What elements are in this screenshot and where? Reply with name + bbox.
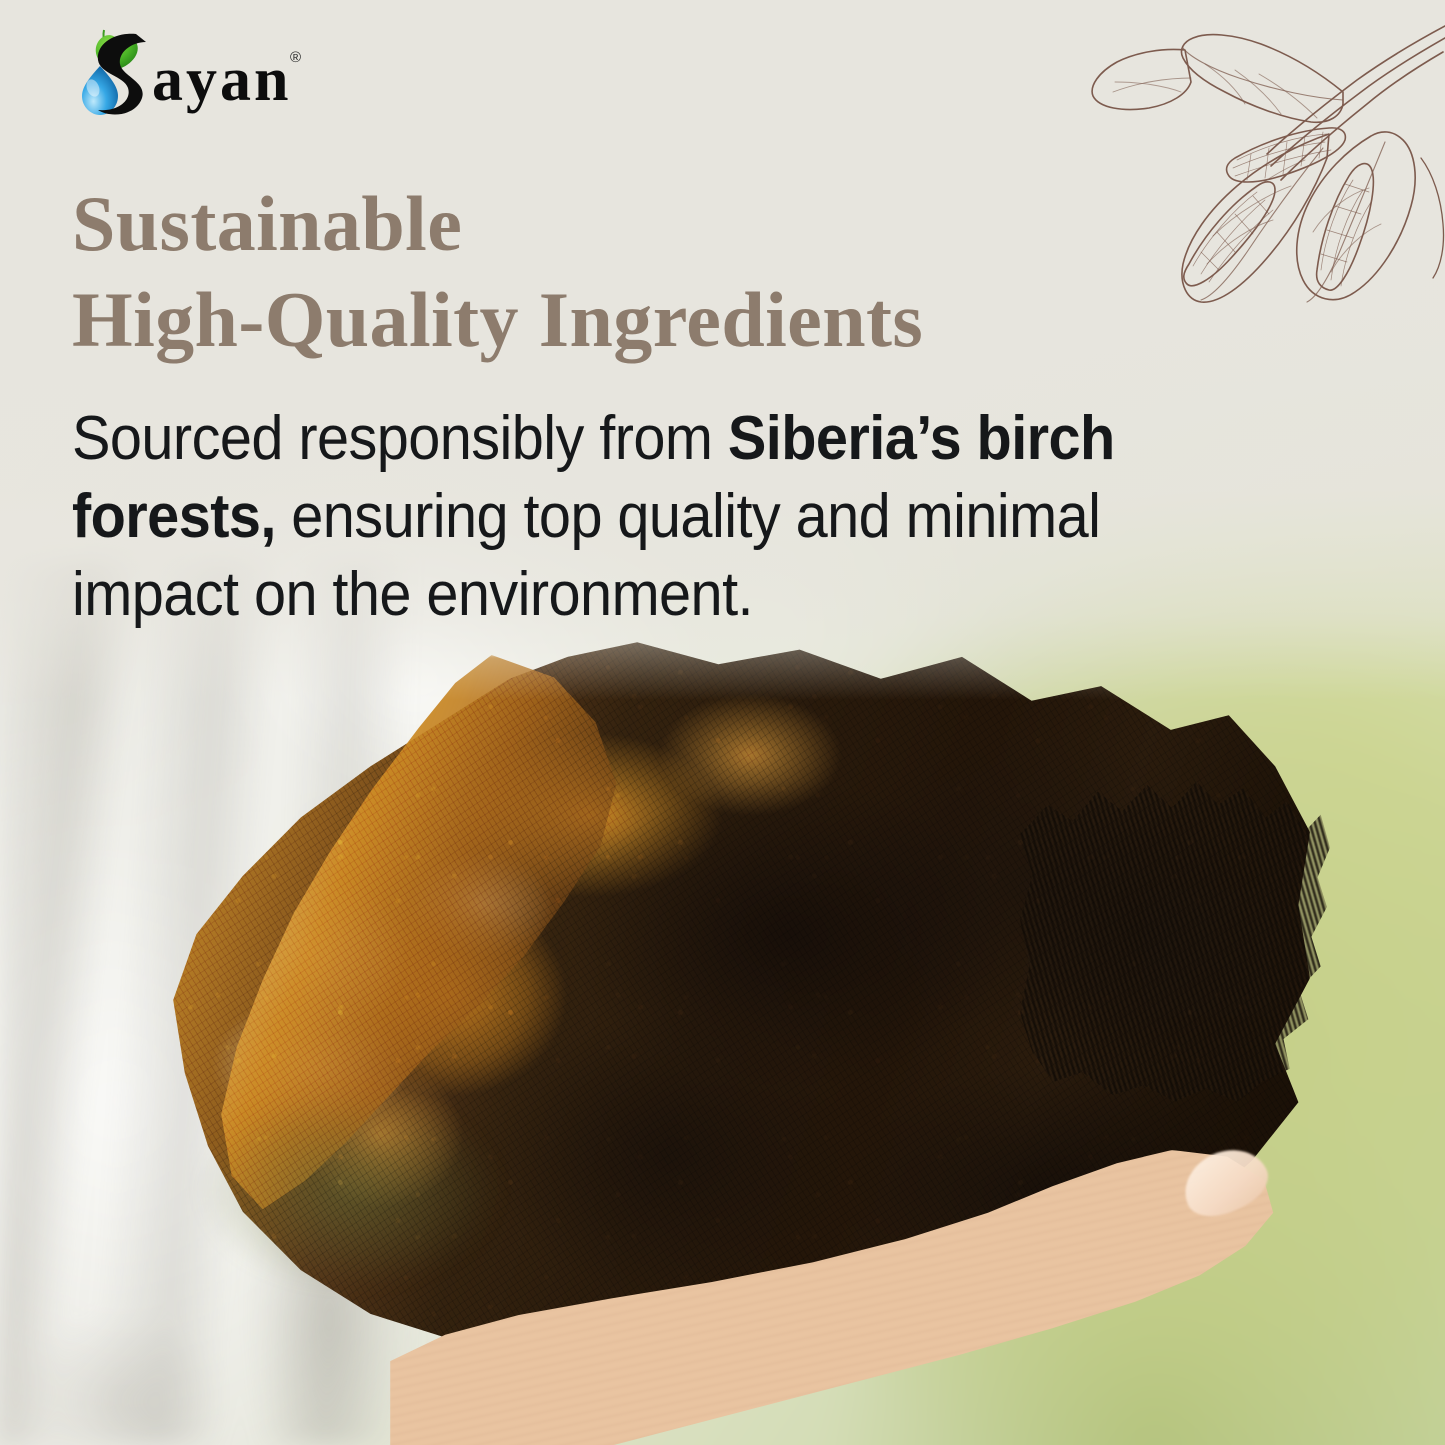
promo-banner: ayan ®	[0, 0, 1445, 1445]
registered-trademark-symbol: ®	[290, 49, 301, 66]
body-text-lead: Sourced responsibly from	[72, 404, 728, 473]
sayan-logo[interactable]: ayan ®	[62, 22, 312, 127]
body-paragraph: Sourced responsibly from Siberia’s birch…	[72, 400, 1253, 634]
logo-wordmark: ayan	[152, 46, 291, 114]
page-title: Sustainable High-Quality Ingredients	[72, 176, 1082, 368]
heading-line-2: High-Quality Ingredients	[72, 272, 1082, 368]
heading-line-1: Sustainable	[72, 180, 462, 267]
